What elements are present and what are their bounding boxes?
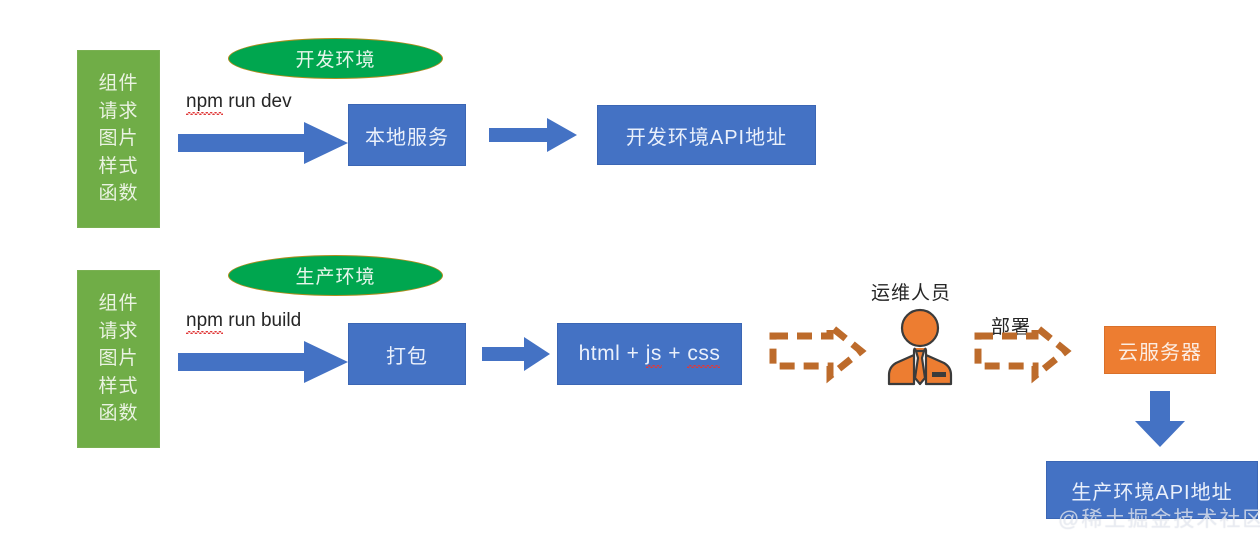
operator-label: 运维人员 <box>871 278 951 305</box>
arrow-right-icon <box>482 337 550 371</box>
diagram-canvas: 组件 请求 图片 样式 函数 开发环境 npm run dev 本地服务 开发环… <box>0 0 1260 541</box>
dev-source-assets-box: 组件 请求 图片 样式 函数 <box>77 50 160 228</box>
arrow-right-icon <box>178 120 348 166</box>
cloud-server-box: 云服务器 <box>1104 326 1216 374</box>
prod-api-address-label: 生产环境API地址 <box>1071 476 1232 505</box>
person-business-icon <box>884 308 956 386</box>
arrow-right-dashed-icon <box>975 322 1070 380</box>
bundle-plus: + <box>627 342 640 365</box>
dev-command-keyword: npm <box>186 91 223 113</box>
watermark: @稀土掘金技术社区 <box>1058 503 1260 533</box>
prod-command-rest: run build <box>223 310 301 331</box>
source-line: 图片 <box>98 345 138 373</box>
arrow-right-icon <box>489 118 577 152</box>
arrow-down-icon <box>1133 391 1187 448</box>
prod-command-keyword: npm <box>186 310 223 332</box>
prod-bundle-label: html + js + css <box>579 342 721 366</box>
source-line: 函数 <box>98 400 138 428</box>
source-line: 组件 <box>98 70 138 98</box>
dev-api-address-label: 开发环境API地址 <box>626 121 787 150</box>
prod-environment-label: 生产环境 <box>295 262 375 289</box>
dev-local-service-label: 本地服务 <box>365 121 449 150</box>
bundle-part-html: html <box>579 342 621 365</box>
source-line: 函数 <box>98 180 138 208</box>
prod-source-assets-box: 组件 请求 图片 样式 函数 <box>77 270 160 448</box>
cloud-server-label: 云服务器 <box>1118 336 1202 365</box>
source-line: 样式 <box>98 373 138 401</box>
dev-environment-pill: 开发环境 <box>228 38 443 79</box>
arrow-right-dashed-icon <box>770 322 865 380</box>
source-line: 图片 <box>98 125 138 153</box>
prod-build-label: 打包 <box>386 340 428 369</box>
source-line: 请求 <box>98 318 138 346</box>
source-line: 样式 <box>98 153 138 181</box>
bundle-plus: + <box>668 342 681 365</box>
prod-build-box: 打包 <box>348 323 466 385</box>
bundle-part-css: css <box>687 342 720 366</box>
dev-command-label: npm run dev <box>186 91 292 113</box>
arrow-right-icon <box>178 339 348 385</box>
bundle-part-js: js <box>646 342 662 366</box>
source-line: 请求 <box>98 98 138 126</box>
prod-command-label: npm run build <box>186 310 301 332</box>
dev-command-rest: run dev <box>223 91 292 112</box>
prod-environment-pill: 生产环境 <box>228 255 443 296</box>
dev-local-service-box: 本地服务 <box>348 104 466 166</box>
prod-bundle-box: html + js + css <box>557 323 742 385</box>
dev-environment-label: 开发环境 <box>295 45 375 72</box>
dev-api-address-box: 开发环境API地址 <box>597 105 816 165</box>
source-line: 组件 <box>98 290 138 318</box>
